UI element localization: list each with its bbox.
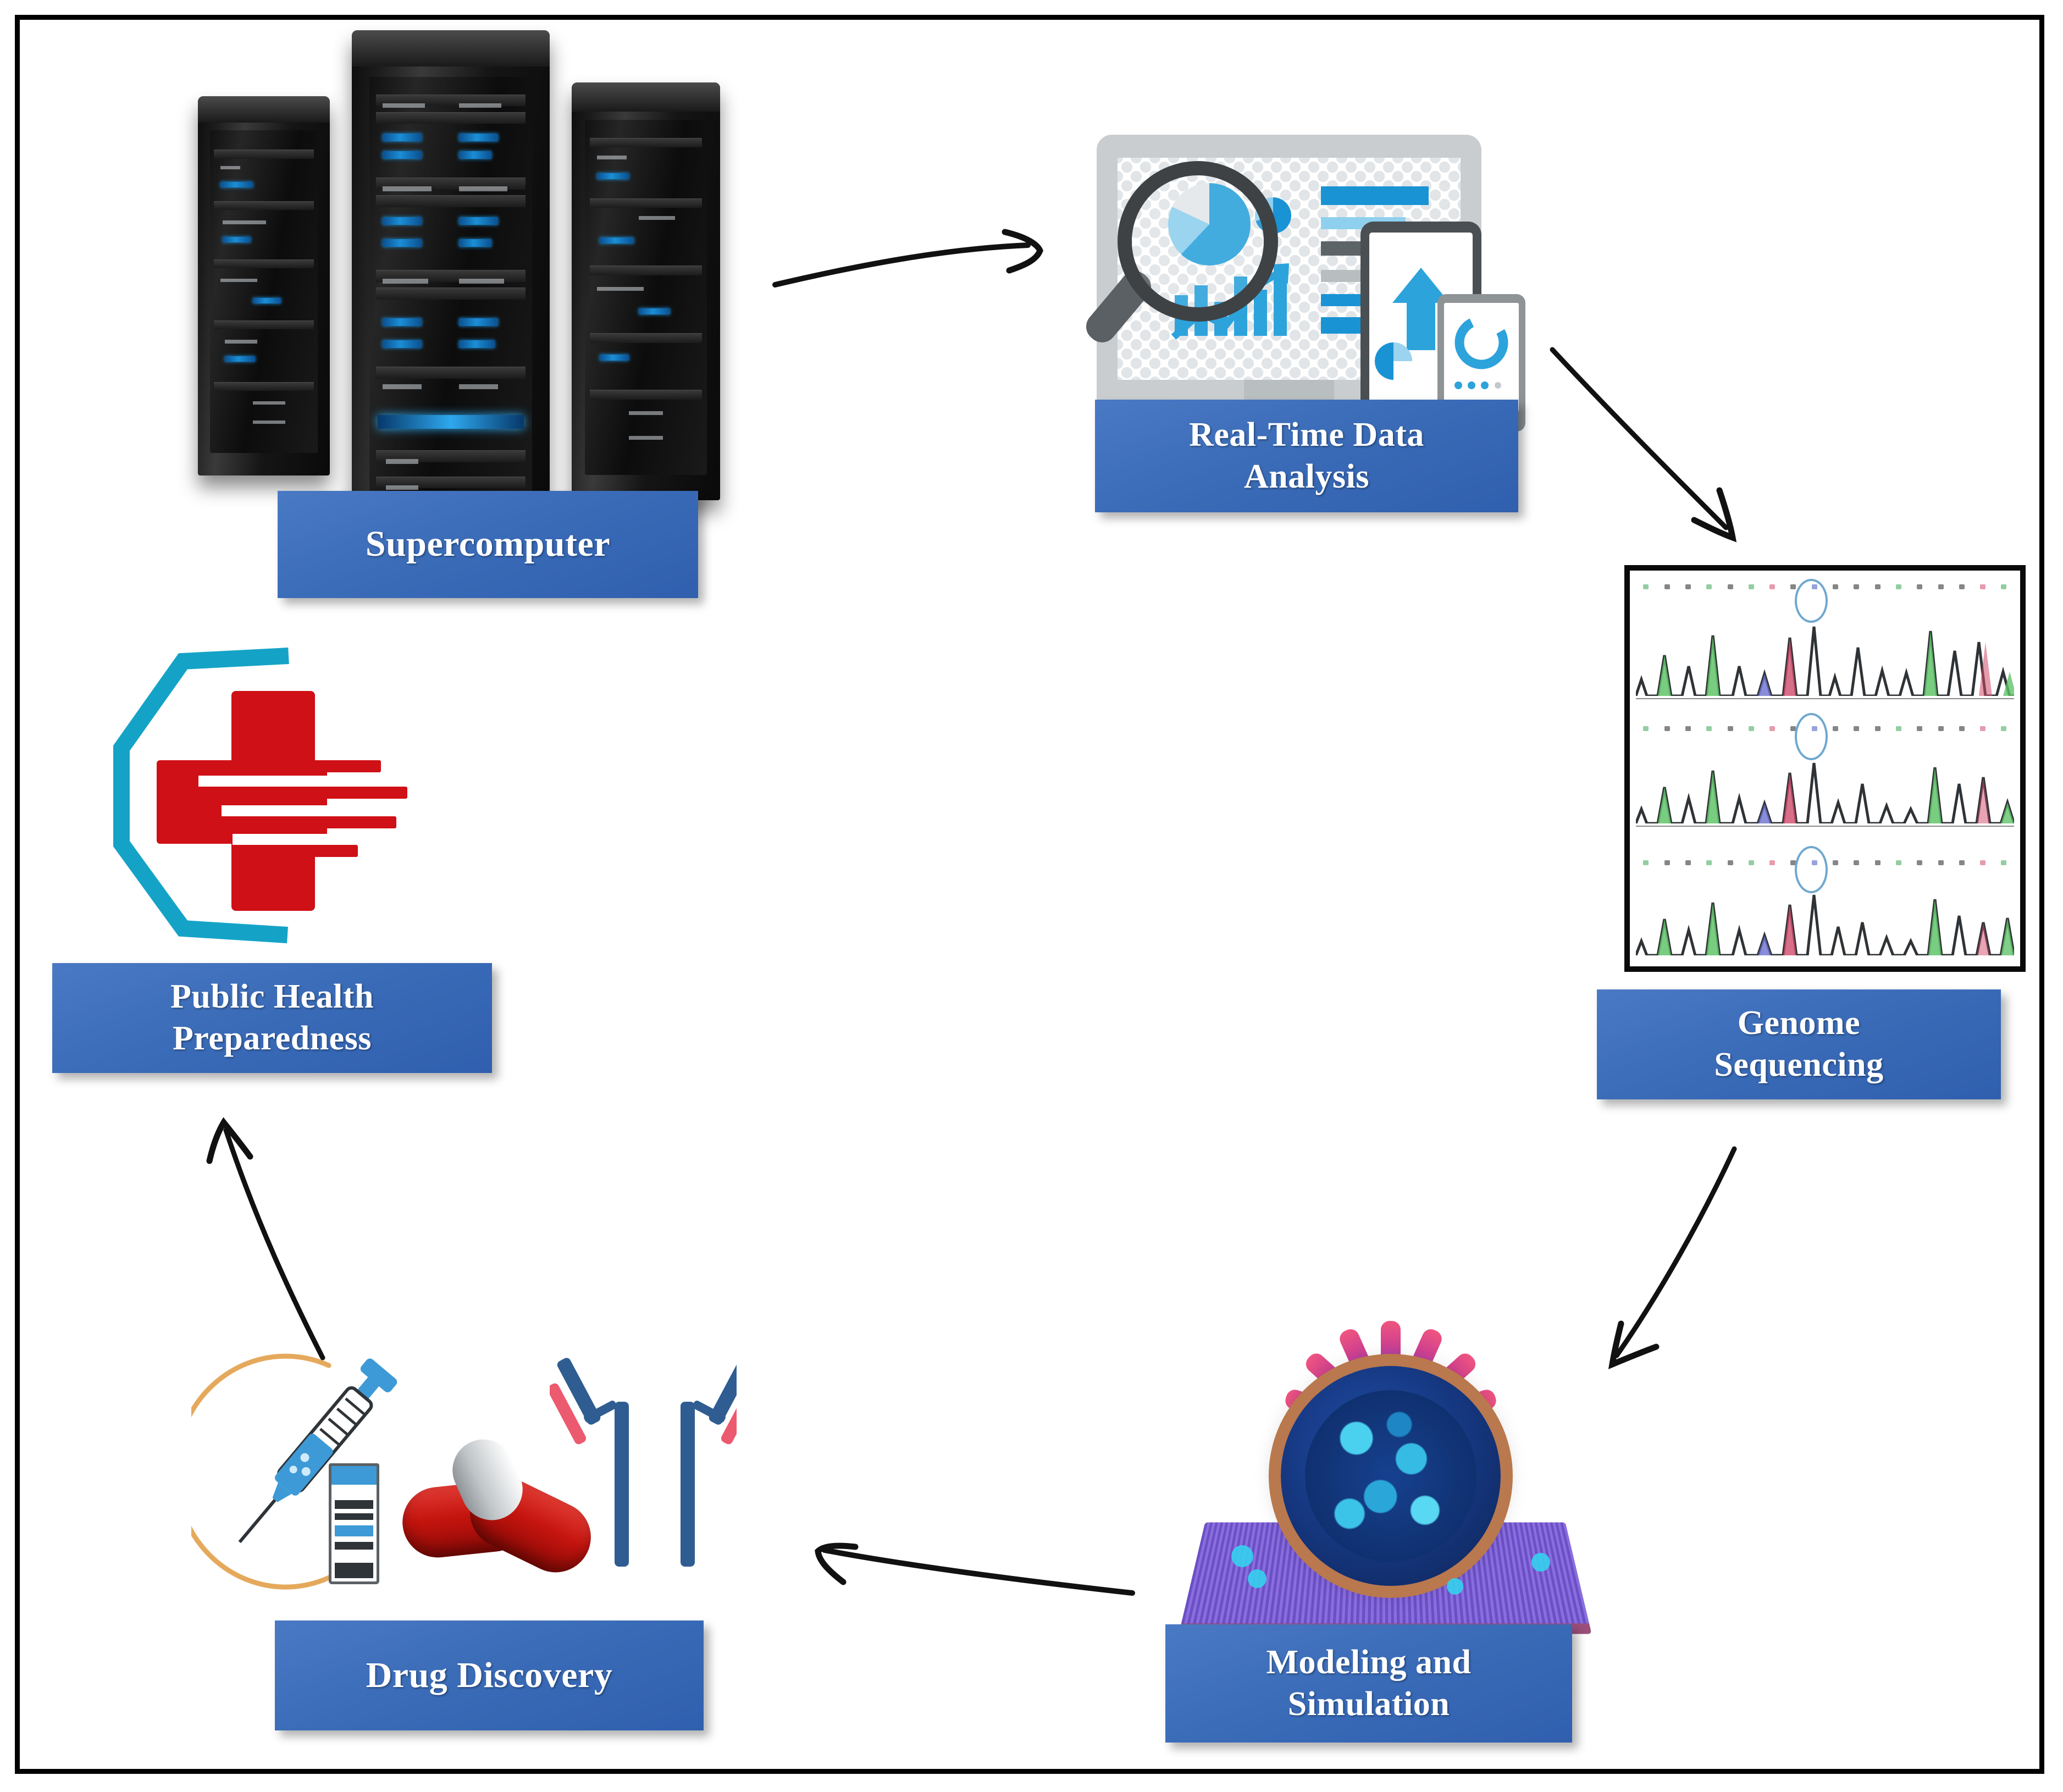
snp-highlight-ellipse (1795, 846, 1828, 893)
label-line: Public Health (170, 976, 374, 1018)
dna-chromatogram-icon (1624, 565, 2026, 972)
label-line: Modeling and (1266, 1642, 1472, 1684)
arrow-drug-discovery-to-public-health (184, 1099, 349, 1380)
medical-cross-shield-icon (102, 640, 481, 948)
snp-highlight-ellipse (1795, 713, 1828, 760)
node-label-genome-sequencing[interactable]: Genome Sequencing (1597, 989, 2001, 1099)
label-line: Preparedness (173, 1018, 372, 1060)
arrow-modeling-to-drug-discovery (748, 1512, 1143, 1616)
node-label-drug-discovery[interactable]: Drug Discovery (275, 1620, 704, 1730)
server-rack-icon (192, 25, 748, 481)
node-label-real-time-data-analysis[interactable]: Real-Time Data Analysis (1095, 400, 1518, 512)
label-line: Simulation (1288, 1684, 1450, 1725)
arrow-supercomputer-to-analysis (770, 220, 1121, 341)
diagram-canvas: Supercomputer (0, 0, 2063, 1792)
label-line: Analysis (1244, 456, 1369, 498)
label-line: Genome (1738, 1003, 1860, 1044)
label-line: Real-Time Data (1189, 414, 1424, 456)
arrow-genome-to-modeling (1575, 1138, 1806, 1385)
node-label-modeling-and-simulation[interactable]: Modeling and Simulation (1165, 1624, 1572, 1743)
node-label-supercomputer[interactable]: Supercomputer (278, 491, 698, 598)
arrow-analysis-to-genome (1545, 335, 1776, 572)
snp-highlight-ellipse (1795, 579, 1828, 623)
virus-membrane-simulation-icon (1182, 1333, 1600, 1641)
label-line: Drug Discovery (366, 1653, 613, 1698)
node-label-public-health-preparedness[interactable]: Public Health Preparedness (52, 963, 492, 1073)
label-line: Supercomputer (366, 522, 610, 567)
label-line: Sequencing (1714, 1044, 1883, 1086)
analytics-dashboard-icon (1086, 129, 1525, 437)
